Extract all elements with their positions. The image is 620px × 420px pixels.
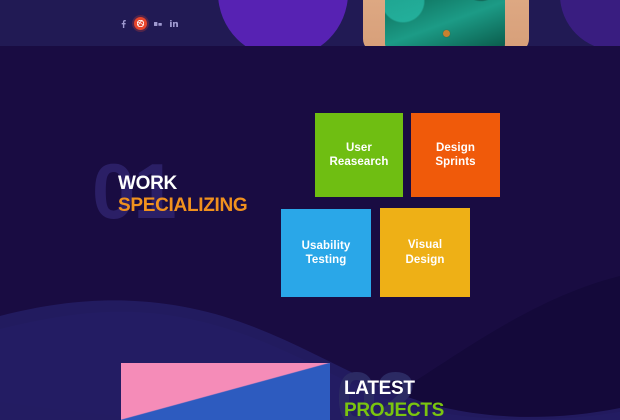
- latest-heading-line1: LATEST: [344, 379, 444, 398]
- hero-banner: [0, 0, 620, 46]
- hero-decor-circle-secondary: [560, 0, 620, 46]
- tile-visual-design[interactable]: Visual Design: [380, 208, 470, 297]
- work-heading-block: WORK SPECIALIZING: [118, 174, 247, 215]
- hero-decor-circle: [218, 0, 348, 46]
- project-thumbnail[interactable]: [121, 363, 330, 420]
- tile-visual-design-line2: Design: [406, 254, 445, 266]
- social-links-bar[interactable]: [118, 17, 179, 30]
- work-heading-line1: WORK: [118, 174, 247, 193]
- latest-heading-block: LATEST PROJECTS: [344, 379, 444, 420]
- behance-icon[interactable]: [153, 19, 163, 29]
- tile-user-research-line1: User: [346, 142, 372, 154]
- tile-user-research[interactable]: User Reasearch: [315, 113, 403, 197]
- tile-design-sprints[interactable]: Design Sprints: [411, 113, 500, 197]
- tile-usability-testing[interactable]: Usability Testing: [281, 209, 371, 297]
- linkedin-icon[interactable]: [169, 19, 179, 29]
- facebook-icon[interactable]: [118, 19, 128, 29]
- latest-heading-line2: PROJECTS: [344, 401, 444, 420]
- tile-visual-design-line1: Visual: [408, 239, 442, 251]
- portfolio-page: 01 WORK SPECIALIZING User Reasearch Desi…: [0, 0, 620, 420]
- tile-design-sprints-line2: Sprints: [435, 156, 475, 168]
- tile-design-sprints-line1: Design: [436, 142, 475, 154]
- person-floral-shirt: [385, 0, 505, 46]
- dribbble-icon[interactable]: [134, 17, 147, 30]
- hero-person-photo: [355, 0, 535, 46]
- person-right-arm: [503, 0, 529, 46]
- work-heading-line2: SPECIALIZING: [118, 196, 247, 215]
- tile-usability-testing-line1: Usability: [302, 240, 351, 252]
- tile-usability-testing-line2: Testing: [306, 254, 347, 266]
- tile-user-research-line2: Reasearch: [329, 156, 388, 168]
